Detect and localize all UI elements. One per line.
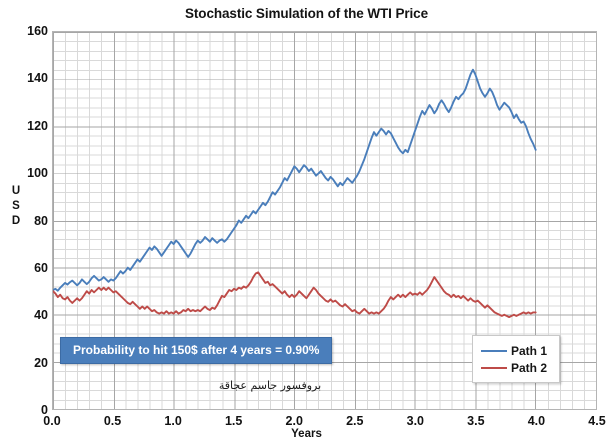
x-axis-tick-label: 1.0 [143, 414, 203, 428]
x-axis-tick-label: 4.5 [567, 414, 613, 428]
y-axis-tick-label: 20 [4, 356, 48, 370]
x-axis-tick-label: 2.0 [264, 414, 324, 428]
x-axis-tick-label: 3.5 [446, 414, 506, 428]
x-axis-tick-label: 3.0 [385, 414, 445, 428]
legend-entry[interactable]: Path 1 [481, 342, 547, 359]
y-axis-tick-label: 60 [4, 261, 48, 275]
y-axis-tick-labels: 020406080100120140160 [0, 31, 48, 410]
probability-annotation: Probability to hit 150$ after 4 years = … [60, 337, 332, 364]
y-axis-tick-label: 140 [4, 71, 48, 85]
y-axis-tick-label: 40 [4, 308, 48, 322]
x-axis-tick-label: 0.5 [83, 414, 143, 428]
x-axis-title: Years [0, 428, 613, 440]
legend-label: Path 1 [511, 344, 547, 358]
author-attribution: بروفسور جاسم عجاقة [210, 379, 330, 392]
y-axis-tick-label: 80 [4, 214, 48, 228]
x-axis-tick-label: 2.5 [325, 414, 385, 428]
chart-title: Stochastic Simulation of the WTI Price [0, 6, 613, 21]
series-line [53, 70, 536, 291]
y-axis-tick-label: 120 [4, 119, 48, 133]
legend-color-swatch [481, 367, 507, 369]
legend-label: Path 2 [511, 361, 547, 375]
series-line [53, 272, 536, 317]
y-axis-tick-label: 160 [4, 24, 48, 38]
x-axis-tick-label: 0.0 [22, 414, 82, 428]
chart-legend: Path 1Path 2 [472, 335, 560, 383]
x-axis-tick-label: 4.0 [506, 414, 566, 428]
chart-container: Stochastic Simulation of the WTI Price U… [0, 0, 613, 443]
y-axis-tick-label: 100 [4, 166, 48, 180]
x-axis-tick-label: 1.5 [204, 414, 264, 428]
legend-color-swatch [481, 350, 507, 352]
legend-entry[interactable]: Path 2 [481, 359, 547, 376]
